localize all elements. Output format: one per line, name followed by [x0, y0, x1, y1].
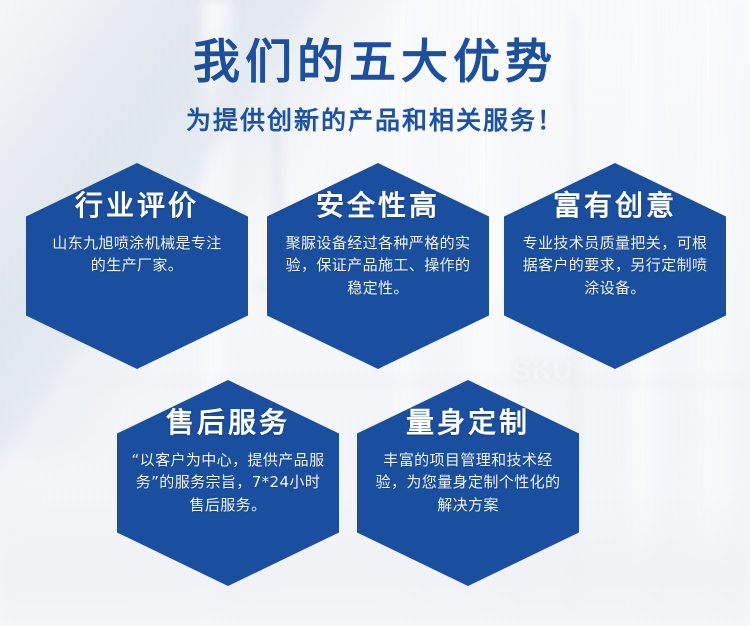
page-title: 我们的五大优势 — [0, 38, 750, 89]
page-subtitle: 为提供创新的产品和相关服务！ — [0, 101, 750, 137]
advantage-body: 专业技术员质量把关，可根据客户的要求，另行定制喷涂设备。 — [517, 232, 713, 300]
advantage-body: 山东九旭喷涂机械是专注的生产厂家。 — [39, 232, 235, 278]
advantage-body: “以客户为中心，提供产品服务”的服务宗旨，7*24小时售后服务。 — [130, 449, 326, 517]
advantage-body: 聚脲设备经过各种严格的实验，保证产品施工、操作的稳定性。 — [280, 232, 476, 300]
banner-heading-group: 我们的五大优势 为提供创新的产品和相关服务！ — [0, 38, 750, 137]
five-advantages-banner: SKU 我们的五大优势 为提供创新的产品和相关服务！ 行业评价 山东九旭喷涂机械… — [0, 0, 750, 626]
advantage-body: 丰富的项目管理和技术经验，为您量身定制个性化的解决方案 — [370, 449, 566, 517]
